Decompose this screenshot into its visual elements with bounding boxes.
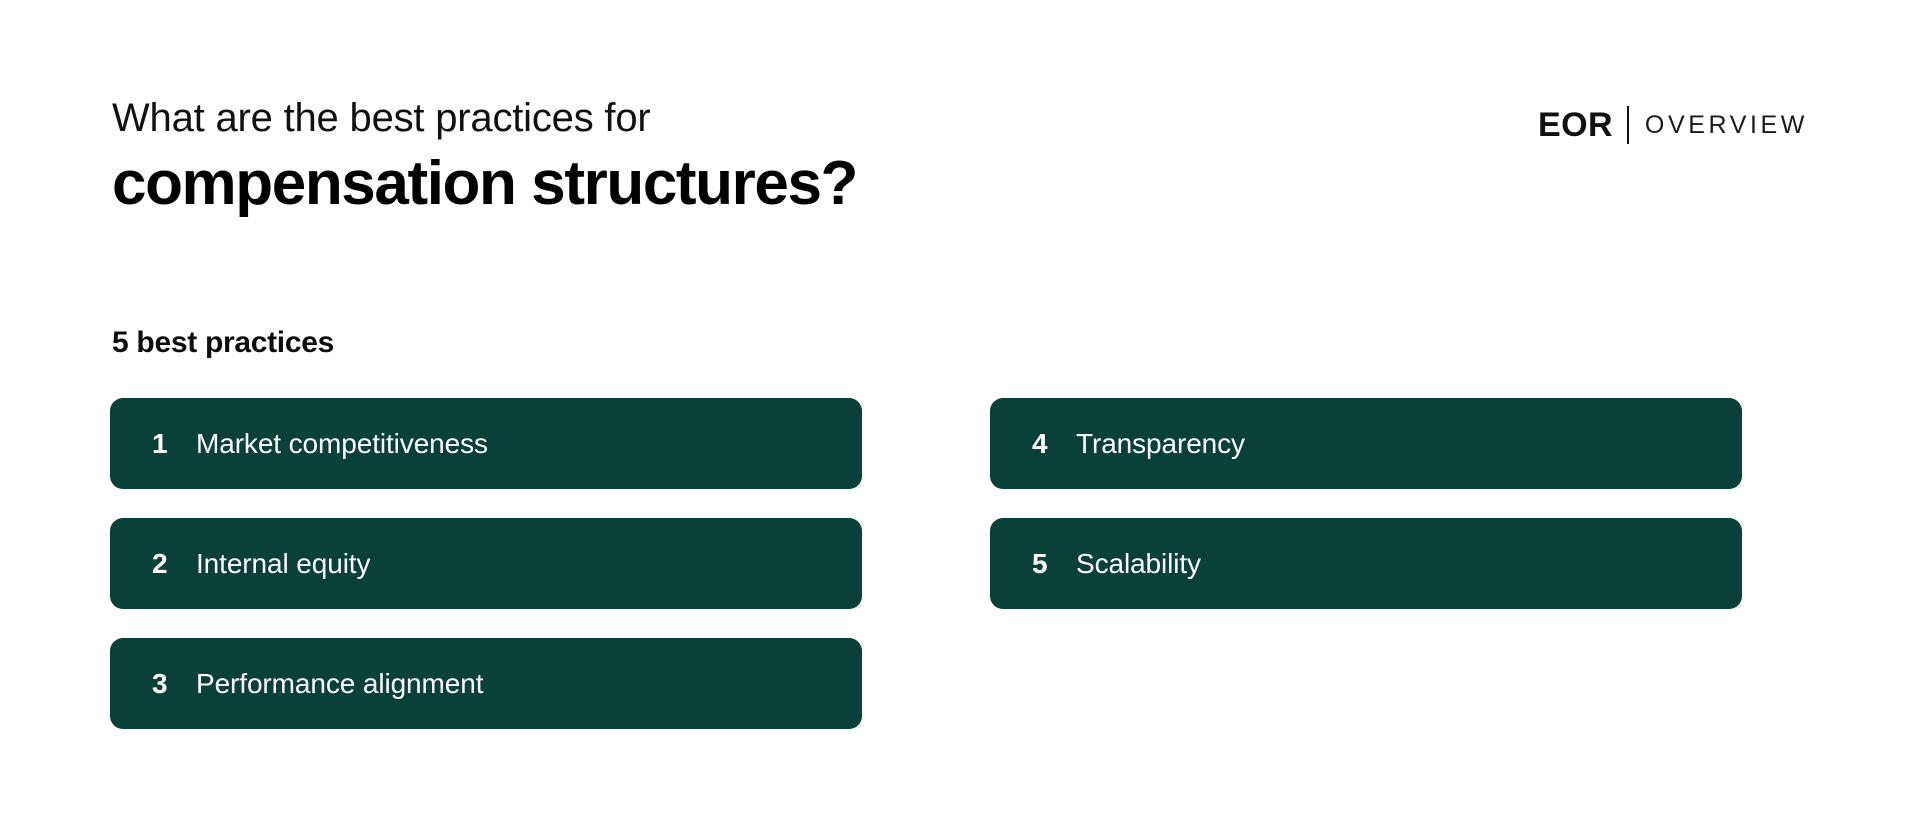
eyebrow-text: What are the best practices for <box>112 96 857 141</box>
page-title: compensation structures? <box>112 151 857 218</box>
list-item-number: 3 <box>152 670 196 698</box>
list-item[interactable]: 2 Internal equity <box>110 518 862 609</box>
list-item[interactable]: 1 Market competitiveness <box>110 398 862 489</box>
list-item-number: 5 <box>1032 550 1076 578</box>
logo-mark-text: EOR <box>1538 108 1627 142</box>
list-item[interactable]: 4 Transparency <box>990 398 1742 489</box>
list-item-label: Internal equity <box>196 550 370 578</box>
list-item-number: 2 <box>152 550 196 578</box>
practices-list: 1 Market competitiveness 2 Internal equi… <box>110 398 1742 729</box>
list-item[interactable]: 5 Scalability <box>990 518 1742 609</box>
list-item-label: Scalability <box>1076 550 1201 578</box>
list-item-number: 4 <box>1032 430 1076 458</box>
title-block: What are the best practices for compensa… <box>112 96 857 218</box>
logo-word-text: OVERVIEW <box>1629 113 1808 138</box>
list-item-placeholder <box>990 638 1742 729</box>
list-item-number: 1 <box>152 430 196 458</box>
slide-header: What are the best practices for compensa… <box>112 96 1808 218</box>
list-item-label: Performance alignment <box>196 670 483 698</box>
brand-logo: EOR OVERVIEW <box>1538 106 1808 144</box>
slide-canvas: What are the best practices for compensa… <box>0 0 1920 818</box>
list-item-label: Market competitiveness <box>196 430 488 458</box>
section-label: 5 best practices <box>112 326 334 360</box>
list-item[interactable]: 3 Performance alignment <box>110 638 862 729</box>
list-item-label: Transparency <box>1076 430 1245 458</box>
